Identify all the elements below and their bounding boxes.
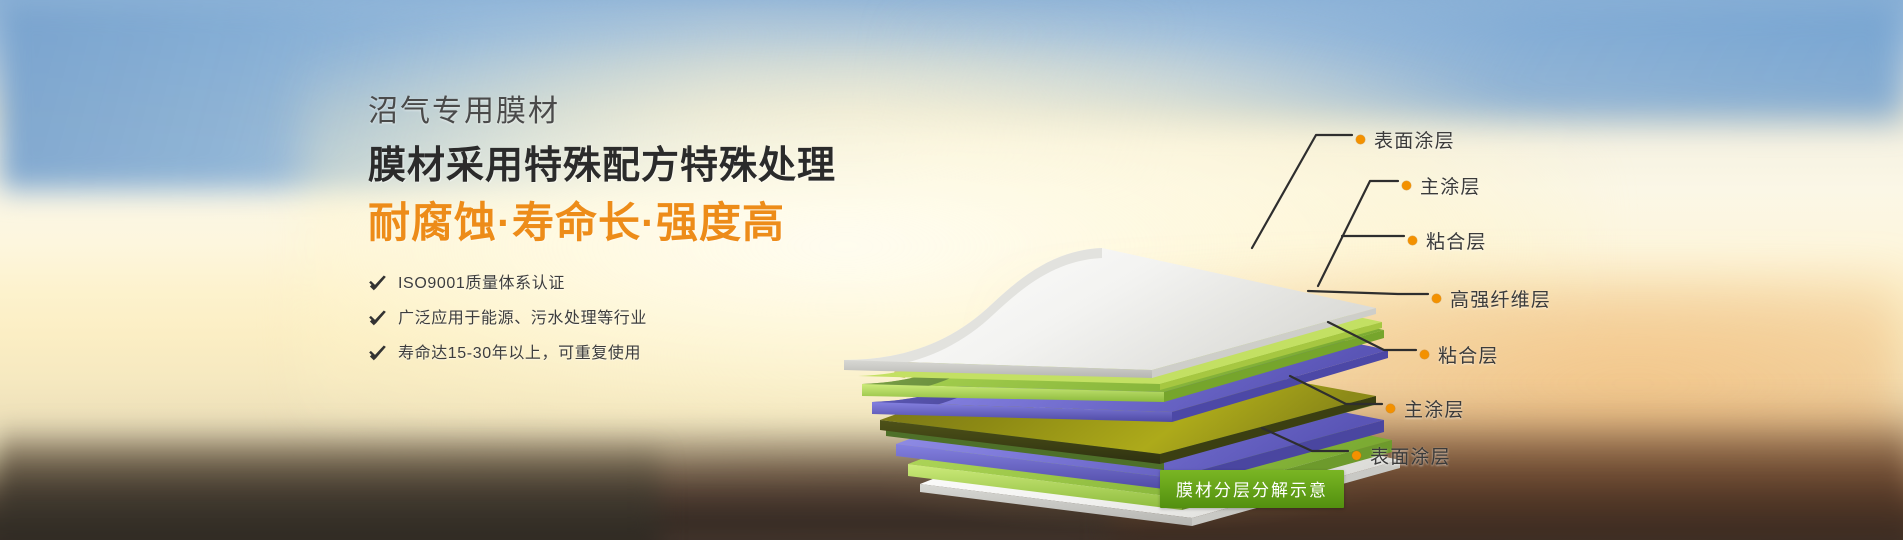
callout-surface-coating-top[interactable]: 表面涂层 xyxy=(1356,126,1455,153)
bullet-dot-icon xyxy=(1432,294,1441,303)
list-item-label: 寿命达15-30年以上，可重复使用 xyxy=(398,344,641,363)
diagram-caption-badge: 膜材分层分解示意 xyxy=(1160,470,1344,508)
callout-main-coating-bottom[interactable]: 主涂层 xyxy=(1386,395,1465,422)
check-icon xyxy=(368,309,387,328)
list-item-label: 广泛应用于能源、污水处理等行业 xyxy=(398,309,647,328)
bullet-dot-icon xyxy=(1420,350,1429,359)
bullet-dot-icon xyxy=(1352,451,1361,460)
callout-label: 高强纤维层 xyxy=(1450,285,1551,312)
callout-bond-layer-bottom[interactable]: 粘合层 xyxy=(1420,341,1499,368)
eyebrow-text: 沼气专用膜材 xyxy=(368,92,928,131)
bullet-dot-icon xyxy=(1408,236,1417,245)
list-item-label: ISO9001质量体系认证 xyxy=(398,274,565,293)
callout-label: 主涂层 xyxy=(1404,395,1465,422)
bullet-dot-icon xyxy=(1386,404,1395,413)
check-icon xyxy=(368,274,387,293)
check-icon xyxy=(368,344,387,363)
callout-label: 粘合层 xyxy=(1426,227,1487,254)
headline-line-1: 膜材采用特殊配方特殊处理 xyxy=(368,143,928,191)
callout-fiber-layer[interactable]: 高强纤维层 xyxy=(1432,285,1551,312)
banner-root: 沼气专用膜材 膜材采用特殊配方特殊处理 耐腐蚀·寿命长·强度高 ISO9001质… xyxy=(0,0,1903,540)
callout-label: 表面涂层 xyxy=(1374,126,1455,153)
callout-label: 表面涂层 xyxy=(1370,442,1451,469)
callout-surface-coating-bottom[interactable]: 表面涂层 xyxy=(1352,442,1451,469)
callout-main-coating-top[interactable]: 主涂层 xyxy=(1402,172,1481,199)
callout-label: 粘合层 xyxy=(1438,341,1499,368)
bullet-dot-icon xyxy=(1356,135,1365,144)
callout-label: 主涂层 xyxy=(1420,172,1481,199)
callout-bond-layer-top[interactable]: 粘合层 xyxy=(1408,227,1487,254)
bullet-dot-icon xyxy=(1402,181,1411,190)
background-ground-left xyxy=(0,440,660,540)
